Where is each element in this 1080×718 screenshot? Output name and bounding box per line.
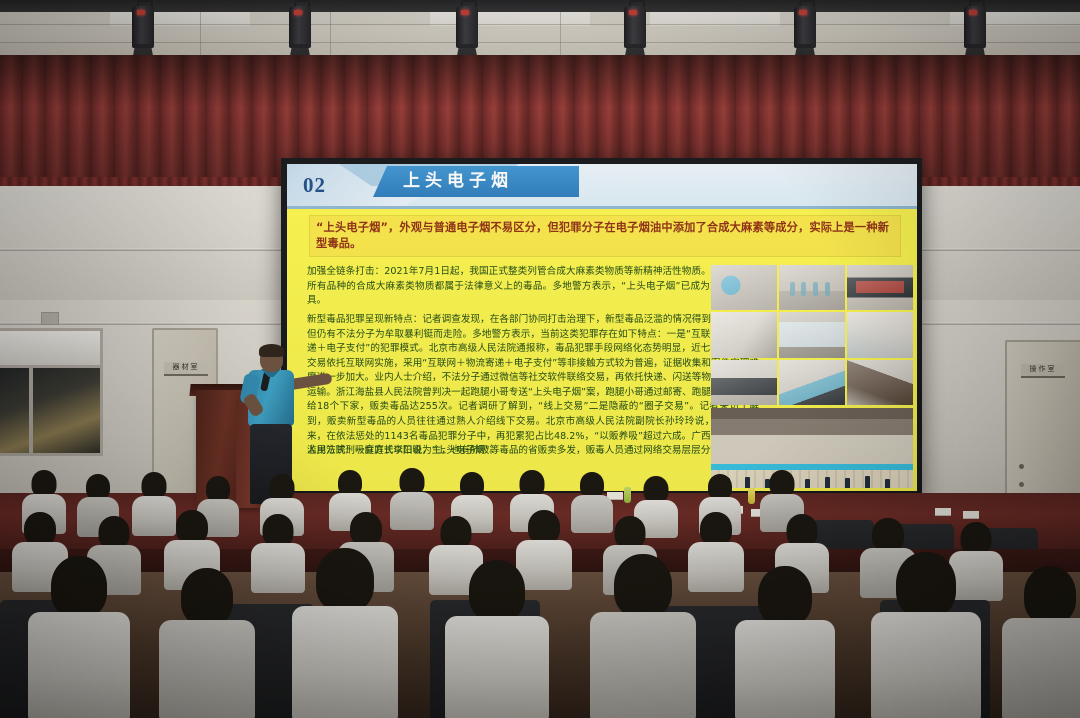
slide-paragraph-1: 加强全链条打击：2021年7月1日起，我国正式整类列管合成大麻素类物质等新精神活… <box>307 265 759 309</box>
slide-title-banner: 上头电子烟 <box>373 166 579 197</box>
evidence-photo-grid <box>711 265 913 405</box>
water-bottle <box>748 488 755 504</box>
right-door-lock[interactable] <box>1019 482 1024 487</box>
audience-member <box>742 566 828 718</box>
slide-header: 02 上头电子烟 <box>287 164 917 206</box>
evidence-photo <box>847 265 913 310</box>
evidence-photo <box>847 360 913 405</box>
evidence-photo <box>711 265 777 310</box>
projection-screen: 02 上头电子烟 “上头电子烟”，外观与普通电子烟不易区分，但犯罪分子在电子烟油… <box>281 158 922 498</box>
evidence-photo <box>779 265 845 310</box>
audience-member <box>164 568 250 718</box>
evidence-photo-wide <box>711 408 913 468</box>
paper-item <box>963 511 979 519</box>
speaker-hair <box>259 344 284 357</box>
left-door-sign: 器材室 <box>164 362 208 376</box>
evidence-photo <box>779 312 845 357</box>
slide-number: 02 <box>303 173 326 198</box>
right-door-knob[interactable] <box>1019 464 1024 469</box>
audience-member <box>690 512 742 588</box>
audience-member <box>1010 566 1080 718</box>
audience-member <box>36 556 122 718</box>
evidence-photo-seized-vapes <box>711 470 913 488</box>
slide-callout-box: “上头电子烟”，外观与普通电子烟不易区分，但犯罪分子在电子烟油中添加了合成大麻素… <box>309 215 901 257</box>
audience-member <box>452 560 542 718</box>
evidence-photo <box>847 312 913 357</box>
slide-paragraph-2: 新型毒品犯罪呈现新特点：记者调查发现，在各部门协同打击治理下，新型毒品泛滥的情况… <box>307 313 759 459</box>
wall-vent <box>41 312 59 325</box>
paper-item <box>935 508 951 516</box>
evidence-photo <box>779 360 845 405</box>
audience-member <box>300 548 390 718</box>
audience-member <box>598 554 688 718</box>
evidence-photo <box>711 312 777 357</box>
audience-member <box>880 552 972 718</box>
audience-member <box>252 514 304 590</box>
auditorium-photo: 器材室 操作室 02 上头电子烟 “上头电子烟”，外观与普通电子烟不易区分，但犯… <box>0 0 1080 718</box>
audience-member <box>392 468 432 526</box>
ceiling-edge <box>0 0 1080 12</box>
evidence-photo <box>711 360 777 405</box>
side-window <box>0 328 103 456</box>
slide-paragraph-3: 滥用方式：吸食方式以口吸为主，也有肺吸。 <box>307 444 565 459</box>
water-bottle <box>624 487 631 503</box>
right-door-sign: 操作室 <box>1021 364 1065 378</box>
slide-body: “上头电子烟”，外观与普通电子烟不易区分，但犯罪分子在电子烟油中添加了合成大麻素… <box>287 209 917 491</box>
presentation-slide: 02 上头电子烟 “上头电子烟”，外观与普通电子烟不易区分，但犯罪分子在电子烟油… <box>287 164 917 491</box>
